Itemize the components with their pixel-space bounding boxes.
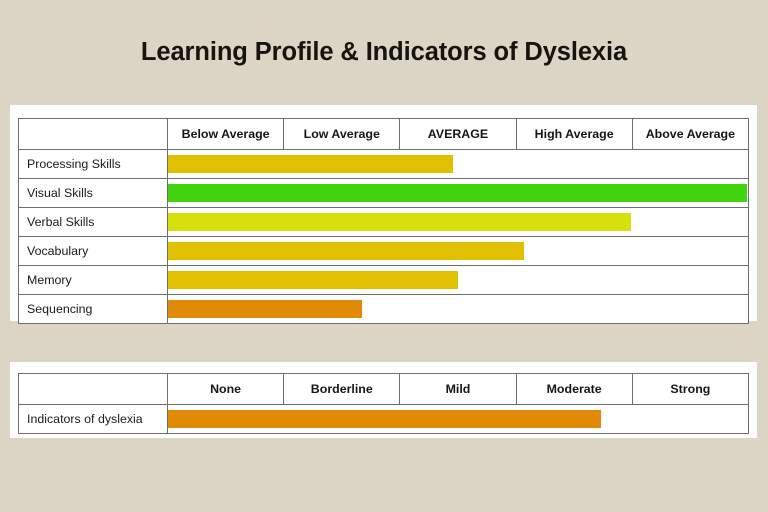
bar-cell <box>168 405 749 434</box>
bar-processing-skills <box>168 155 453 173</box>
bar-cell <box>168 237 749 266</box>
column-header-low-average: Low Average <box>284 119 400 150</box>
bar-visual-skills <box>168 184 747 202</box>
bar-cell <box>168 295 749 324</box>
bar-verbal-skills <box>168 213 631 231</box>
row-label-visual-skills: Visual Skills <box>19 179 168 208</box>
bar-cell <box>168 179 749 208</box>
indicators-of-dyslexia-table: None Borderline Mild Moderate Strong Ind… <box>18 373 749 434</box>
row-label-verbal-skills: Verbal Skills <box>19 208 168 237</box>
bar-cell <box>168 266 749 295</box>
row-label-processing-skills: Processing Skills <box>19 150 168 179</box>
learning-profile-table: Below Average Low Average AVERAGE High A… <box>18 118 749 324</box>
column-header-mild: Mild <box>400 374 516 405</box>
bar-sequencing <box>168 300 362 318</box>
bar-track <box>168 179 748 207</box>
column-header-moderate: Moderate <box>516 374 632 405</box>
column-header-below-average: Below Average <box>168 119 284 150</box>
learning-profile-table-body: Processing Skills Visual Skills <box>19 150 749 324</box>
table-row: Processing Skills <box>19 150 749 179</box>
table-row: Verbal Skills <box>19 208 749 237</box>
table-header-row: Below Average Low Average AVERAGE High A… <box>19 119 749 150</box>
bar-track <box>168 237 748 265</box>
column-header-high-average: High Average <box>516 119 632 150</box>
column-header-average: AVERAGE <box>400 119 516 150</box>
bar-track <box>168 208 748 236</box>
table-row: Memory <box>19 266 749 295</box>
table-header-row: None Borderline Mild Moderate Strong <box>19 374 749 405</box>
page-title: Learning Profile & Indicators of Dyslexi… <box>0 38 768 67</box>
bar-memory <box>168 271 458 289</box>
table-row: Sequencing <box>19 295 749 324</box>
table-row: Vocabulary <box>19 237 749 266</box>
column-header-above-average: Above Average <box>632 119 748 150</box>
column-header-borderline: Borderline <box>284 374 400 405</box>
indicators-table-header: None Borderline Mild Moderate Strong <box>19 374 749 405</box>
indicators-of-dyslexia-card: None Borderline Mild Moderate Strong Ind… <box>10 362 757 438</box>
column-header-none: None <box>168 374 284 405</box>
bar-track <box>168 266 748 294</box>
row-label-memory: Memory <box>19 266 168 295</box>
bar-vocabulary <box>168 242 524 260</box>
bar-indicators-of-dyslexia <box>168 410 601 428</box>
column-header-strong: Strong <box>632 374 748 405</box>
slide-canvas: Learning Profile & Indicators of Dyslexi… <box>0 0 768 512</box>
bar-cell <box>168 208 749 237</box>
table-row: Visual Skills <box>19 179 749 208</box>
header-corner-cell <box>19 119 168 150</box>
table-row: Indicators of dyslexia <box>19 405 749 434</box>
indicators-table-body: Indicators of dyslexia <box>19 405 749 434</box>
bar-track <box>168 150 748 178</box>
row-label-vocabulary: Vocabulary <box>19 237 168 266</box>
bar-track <box>168 295 748 323</box>
learning-profile-card: Below Average Low Average AVERAGE High A… <box>10 105 757 321</box>
bar-cell <box>168 150 749 179</box>
header-corner-cell <box>19 374 168 405</box>
bar-track <box>168 405 748 433</box>
learning-profile-table-header: Below Average Low Average AVERAGE High A… <box>19 119 749 150</box>
row-label-indicators-of-dyslexia: Indicators of dyslexia <box>19 405 168 434</box>
row-label-sequencing: Sequencing <box>19 295 168 324</box>
